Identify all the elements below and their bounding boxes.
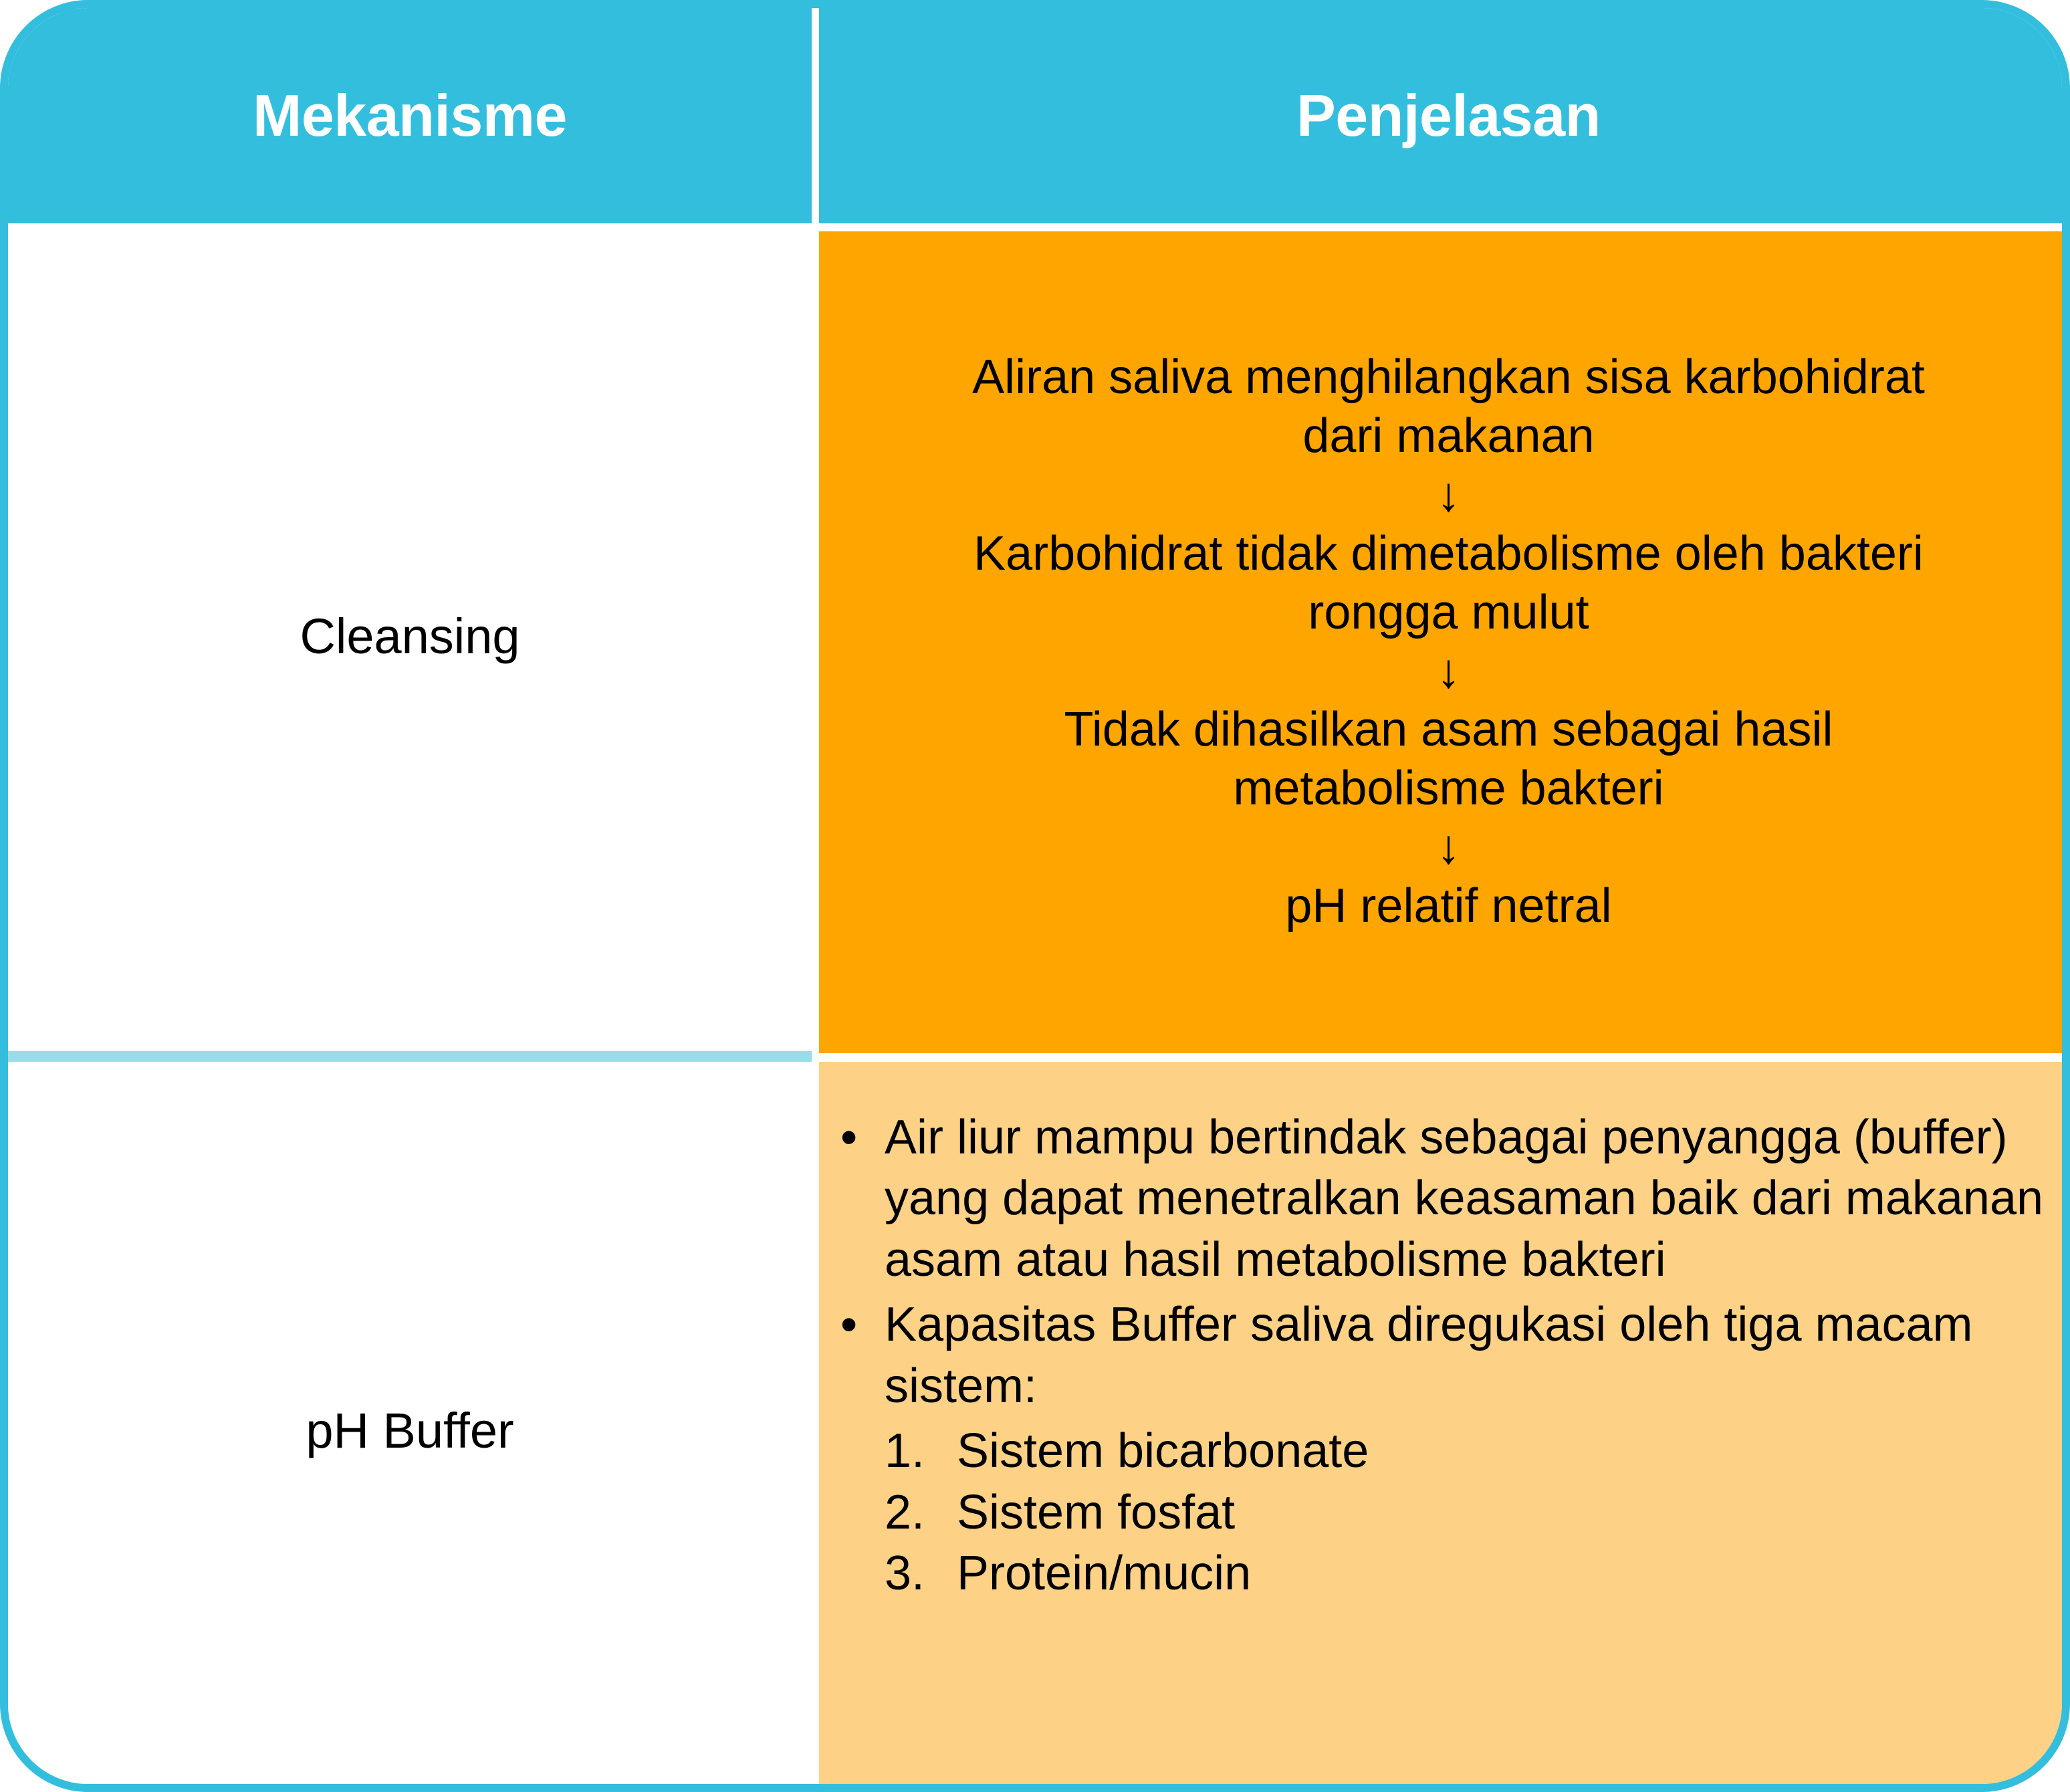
mechanism-label-ph-buffer: pH Buffer <box>306 1404 513 1458</box>
flow-step-1: Aliran saliva menghilangkan sisa karbohi… <box>927 348 1970 466</box>
flow-step-3: Tidak dihasilkan asam sebagai hasil meta… <box>927 701 1970 818</box>
table-row: pH Buffer <box>8 1062 812 1792</box>
explanation-cell-ph-buffer: • Air liur mampu bertindak sebagai penya… <box>819 1062 2070 1792</box>
list-item: 2. Sistem fosfat <box>885 1482 2051 1543</box>
table-header-cell-mekanisme: Mekanisme <box>8 8 812 223</box>
list-number: 3. <box>885 1543 925 1604</box>
bullet-icon: • <box>840 1107 857 1168</box>
header-label-penjelasan: Penjelasan <box>1296 86 1601 145</box>
explanation-cell-cleansing: Aliran saliva menghilangkan sisa karbohi… <box>819 231 2070 1053</box>
bullet-icon: • <box>840 1295 857 1355</box>
list-item-text: Sistem bicarbonate <box>957 1424 1369 1478</box>
down-arrow-icon: ↓ <box>927 818 1970 877</box>
table-header-row: Mekanisme Penjelasan <box>8 8 2070 223</box>
down-arrow-icon: ↓ <box>927 466 1970 525</box>
list-item-text: Kapasitas Buffer saliva diregukasi oleh … <box>885 1298 1973 1412</box>
row-divider <box>8 1051 812 1062</box>
table-row: Cleansing <box>8 223 812 1049</box>
list-item: 3. Protein/mucin <box>885 1543 2051 1604</box>
bullet-list: • Air liur mampu bertindak sebagai penya… <box>832 1107 2051 1417</box>
list-item: • Kapasitas Buffer saliva diregukasi ole… <box>832 1295 2051 1417</box>
list-item-text: Protein/mucin <box>957 1547 1251 1600</box>
header-label-mekanisme: Mekanisme <box>253 86 567 145</box>
list-item: • Air liur mampu bertindak sebagai penya… <box>832 1107 2051 1291</box>
flow-step-4: pH relatif netral <box>927 877 1970 936</box>
list-number: 1. <box>885 1421 925 1482</box>
flow-step-2: Karbohidrat tidak dimetabolisme oleh bak… <box>927 525 1970 643</box>
down-arrow-icon: ↓ <box>927 643 1970 701</box>
list-item-text: Sistem fosfat <box>957 1486 1235 1539</box>
table-header-cell-penjelasan: Penjelasan <box>819 8 2070 223</box>
comparison-table: Mekanisme Penjelasan Cleansing Aliran sa… <box>0 0 2070 1792</box>
list-number: 2. <box>885 1482 925 1543</box>
mechanism-label-cleansing: Cleansing <box>300 609 520 663</box>
list-item-text: Air liur mampu bertindak sebagai penyang… <box>885 1111 2043 1286</box>
list-item: 1. Sistem bicarbonate <box>885 1421 2051 1482</box>
numbered-list: 1. Sistem bicarbonate 2. Sistem fosfat 3… <box>832 1421 2051 1604</box>
